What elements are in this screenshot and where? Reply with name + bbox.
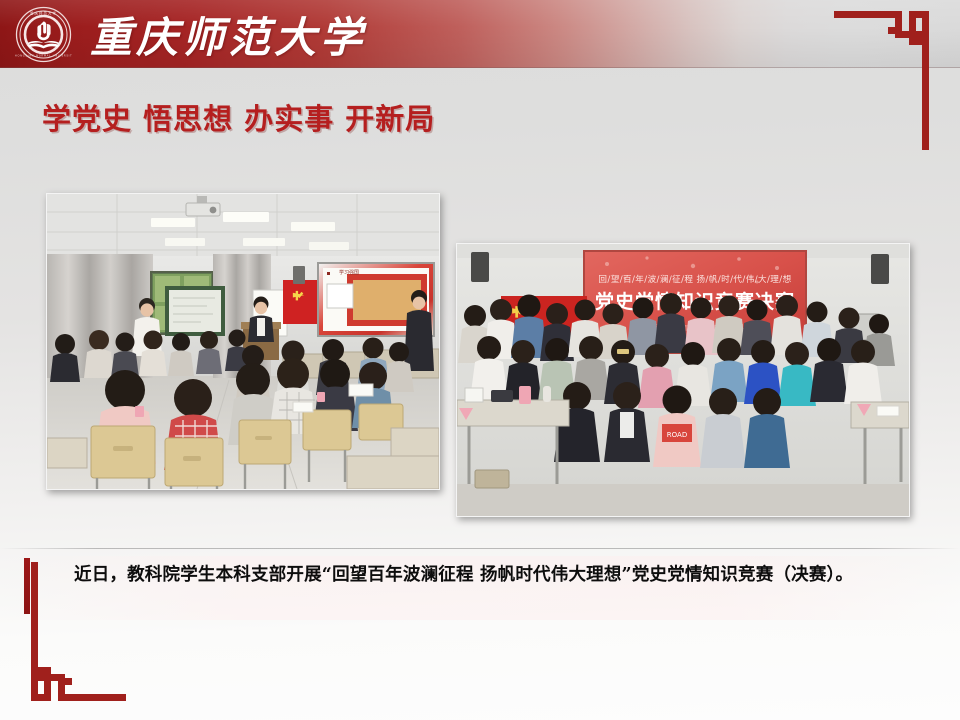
header-divider — [0, 67, 960, 68]
svg-text:CHONGQING NORMAL UNIVERSITY: CHONGQING NORMAL UNIVERSITY — [15, 54, 72, 58]
meander-corner-icon-bottom-left — [22, 562, 126, 712]
slide-canvas: 重庆师范大学 CHONGQING NORMAL UNIVERSITY 重庆师范大… — [0, 0, 960, 720]
svg-text:回/望/百/年/波/澜/征/程 扬/帆/时/代/伟/大/理: 回/望/百/年/波/澜/征/程 扬/帆/时/代/伟/大/理/想 — [598, 273, 791, 285]
classroom-session-photo: 学习强国 — [46, 193, 440, 490]
caption-divider — [0, 548, 960, 549]
svg-text:ROAD: ROAD — [667, 431, 687, 439]
group-photo: 回/望/百/年/波/澜/征/程 扬/帆/时/代/伟/大/理/想 党史党情知识竞赛… — [456, 243, 910, 517]
svg-text:重庆师范大学: 重庆师范大学 — [30, 11, 57, 16]
university-title: 重庆师范大学 — [90, 5, 366, 63]
cqnu-emblem-icon: 重庆师范大学 CHONGQING NORMAL UNIVERSITY — [15, 6, 72, 63]
caption-text: 近日，教科院学生本科支部开展“回望百年波澜征程 扬帆时代伟大理想”党史党情知识竞… — [74, 562, 936, 588]
campaign-slogan: 学党史 悟思想 办实事 开新局 — [42, 96, 435, 138]
meander-corner-icon-top-right — [834, 0, 938, 150]
svg-text:学习强国: 学习强国 — [339, 269, 359, 276]
